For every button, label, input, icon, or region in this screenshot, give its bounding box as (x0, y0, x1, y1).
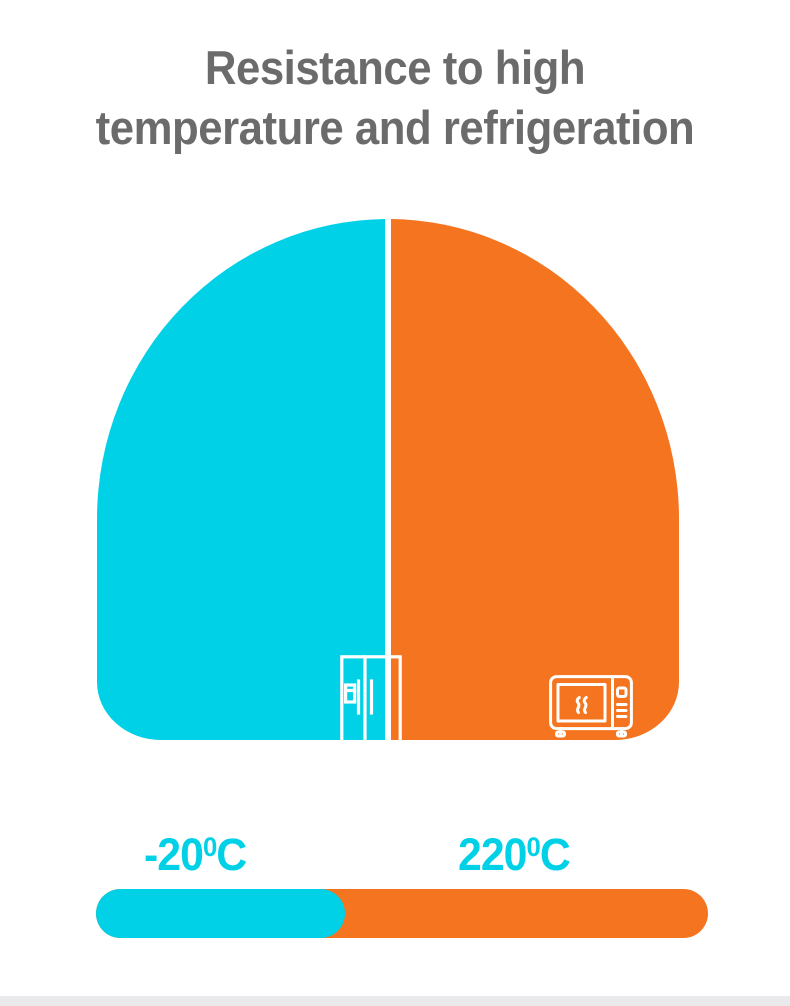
cold-temperature-unit: C (216, 829, 246, 880)
infographic-page: Resistance to high temperature and refri… (0, 0, 790, 1006)
footer-strip (0, 996, 790, 1006)
temperature-labels: -200C 2200C (96, 818, 708, 880)
hot-temperature-value: 220 (458, 829, 526, 880)
temperature-range-bar[interactable] (96, 889, 708, 938)
page-title: Resistance to high temperature and refri… (0, 38, 790, 158)
hot-degree-symbol: 0 (526, 832, 539, 862)
hot-half-shape (391, 219, 679, 740)
hot-temperature-label: 2200C (458, 818, 570, 884)
page-title-line-1: Resistance to high (28, 38, 763, 98)
cold-degree-symbol: 0 (203, 832, 216, 862)
cold-temperature-label: -200C (144, 818, 246, 884)
cold-half-panel (97, 219, 385, 740)
hot-half-panel (391, 219, 679, 740)
page-title-line-2: temperature and refrigeration (28, 98, 763, 158)
cold-half-shape (97, 219, 385, 740)
temperature-illustration (97, 219, 679, 740)
cold-temperature-value: -20 (144, 829, 203, 880)
hot-temperature-unit: C (540, 829, 570, 880)
temperature-range-cold-fill (96, 889, 345, 938)
